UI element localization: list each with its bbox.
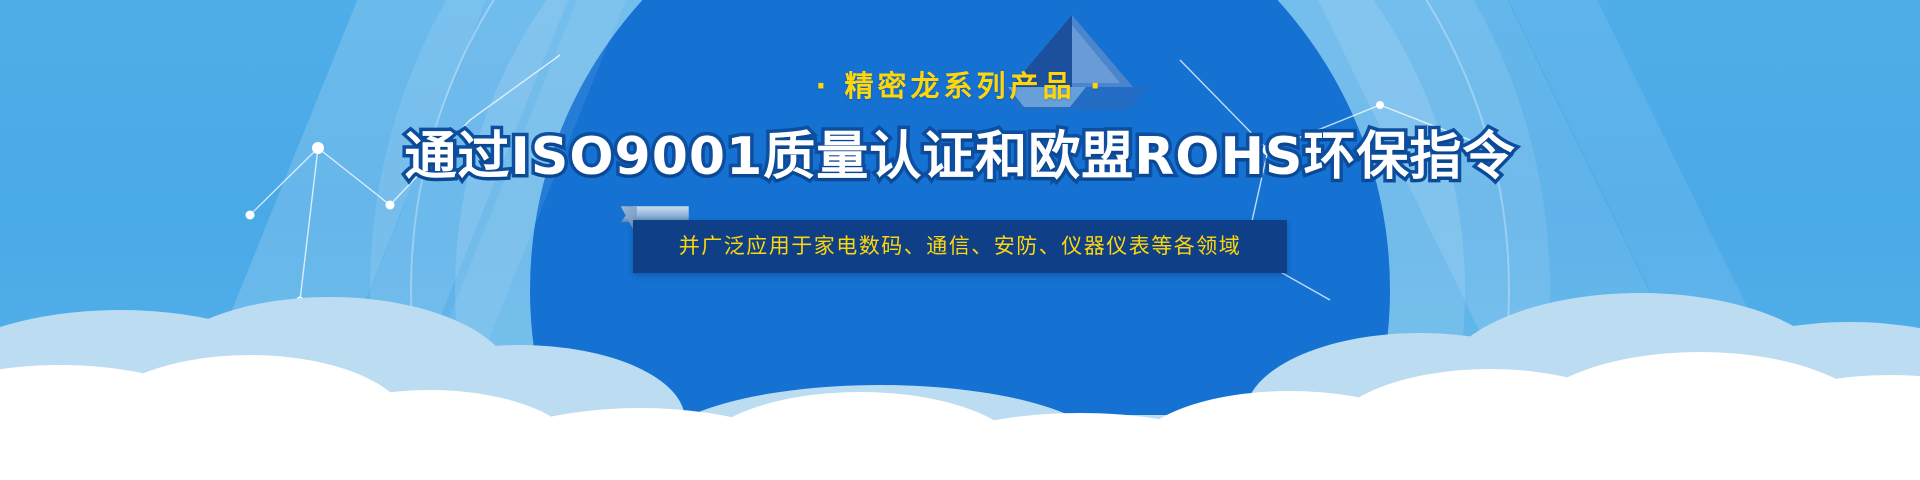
eyebrow-text: · 精密龙系列产品 ·: [815, 72, 1104, 101]
cloud-bank: [0, 265, 1920, 480]
promo-banner: · 精密龙系列产品 · 通过ISO9001质量认证和欧盟ROHS环保指令 并广泛…: [0, 0, 1920, 480]
page-title: 通过ISO9001质量认证和欧盟ROHS环保指令: [405, 129, 1516, 186]
